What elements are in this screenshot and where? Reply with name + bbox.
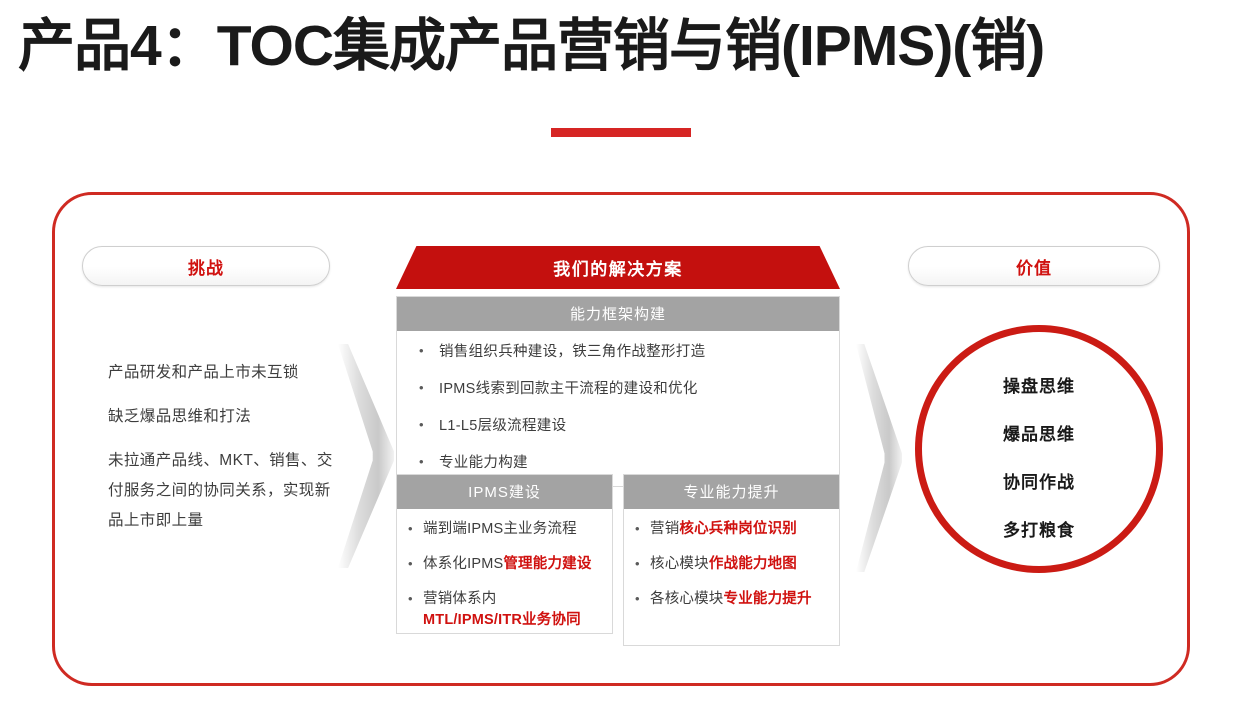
list-item: 体系化IPMS管理能力建设 bbox=[403, 554, 606, 575]
sub-panel-ipms: IPMS建设 端到端IPMS主业务流程体系化IPMS管理能力建设营销体系内MTL… bbox=[396, 474, 613, 634]
framework-block-header: 能力框架构建 bbox=[397, 297, 839, 331]
list-item: 核心模块作战能力地图 bbox=[630, 554, 833, 575]
value-header-label: 价值 bbox=[1016, 254, 1052, 279]
value-item: 操盘思维 bbox=[915, 375, 1163, 399]
list-item: 营销核心兵种岗位识别 bbox=[630, 519, 833, 540]
solution-banner-label: 我们的解决方案 bbox=[553, 255, 683, 280]
sub-panel-bullet-list: 端到端IPMS主业务流程体系化IPMS管理能力建设营销体系内MTL/IPMS/I… bbox=[397, 509, 612, 639]
page-title: 产品4：TOC集成产品营销与销(IPMS)(销) bbox=[18, 14, 1228, 80]
sub-panel-header: 专业能力提升 bbox=[624, 475, 839, 509]
list-item-text: 营销 bbox=[650, 521, 679, 537]
list-item: IPMS线索到回款主干流程的建设和优化 bbox=[397, 380, 839, 398]
list-item: 各核心模块专业能力提升 bbox=[630, 589, 833, 610]
list-item-highlight: 作战能力地图 bbox=[709, 556, 797, 572]
list-item: 销售组织兵种建设，铁三角作战整形打造 bbox=[397, 343, 839, 361]
value-item: 协同作战 bbox=[915, 471, 1163, 495]
value-item-list: 操盘思维 爆品思维 协同作战 多打粮食 bbox=[915, 375, 1163, 543]
list-item-highlight: MTL/IPMS/ITR业务协同 bbox=[423, 612, 581, 628]
challenge-paragraph: 未拉通产品线、MKT、销售、交付服务之间的协同关系，实现新品上市即上量 bbox=[108, 446, 340, 536]
list-item-highlight: 核心兵种岗位识别 bbox=[679, 521, 797, 537]
list-item-text: 核心模块 bbox=[650, 556, 709, 572]
sub-panel-capability-upgrade: 专业能力提升 营销核心兵种岗位识别核心模块作战能力地图各核心模块专业能力提升 bbox=[623, 474, 840, 646]
list-item-text: 营销体系内 bbox=[423, 591, 497, 607]
sub-panel-bullet-list: 营销核心兵种岗位识别核心模块作战能力地图各核心模块专业能力提升 bbox=[624, 509, 839, 618]
title-underline-rule bbox=[551, 128, 691, 137]
list-item-highlight: 专业能力提升 bbox=[724, 591, 812, 607]
challenge-header-pill: 挑战 bbox=[82, 246, 330, 286]
challenge-text-group: 产品研发和产品上市未互锁 缺乏爆品思维和打法 未拉通产品线、MKT、销售、交付服… bbox=[108, 358, 340, 536]
challenge-paragraph: 缺乏爆品思维和打法 bbox=[108, 402, 340, 432]
list-item-text: 各核心模块 bbox=[650, 591, 724, 607]
challenge-paragraph: 产品研发和产品上市未互锁 bbox=[108, 358, 340, 388]
value-item: 爆品思维 bbox=[915, 423, 1163, 447]
value-header-pill: 价值 bbox=[908, 246, 1160, 286]
list-item-text: 端到端IPMS主业务流程 bbox=[423, 521, 577, 537]
list-item: 专业能力构建 bbox=[397, 454, 839, 472]
list-item-text: 体系化IPMS bbox=[423, 556, 503, 572]
challenge-header-label: 挑战 bbox=[188, 254, 224, 279]
framework-block: 能力框架构建 销售组织兵种建设，铁三角作战整形打造 IPMS线索到回款主干流程的… bbox=[396, 296, 840, 487]
list-item: L1-L5层级流程建设 bbox=[397, 417, 839, 435]
list-item: 端到端IPMS主业务流程 bbox=[403, 519, 606, 540]
list-item: 营销体系内MTL/IPMS/ITR业务协同 bbox=[403, 589, 606, 631]
list-item-highlight: 管理能力建设 bbox=[503, 556, 591, 572]
sub-panel-header: IPMS建设 bbox=[397, 475, 612, 509]
value-item: 多打粮食 bbox=[915, 519, 1163, 543]
framework-bullet-list: 销售组织兵种建设，铁三角作战整形打造 IPMS线索到回款主干流程的建设和优化 L… bbox=[397, 331, 839, 486]
solution-banner: 我们的解决方案 bbox=[396, 246, 840, 289]
